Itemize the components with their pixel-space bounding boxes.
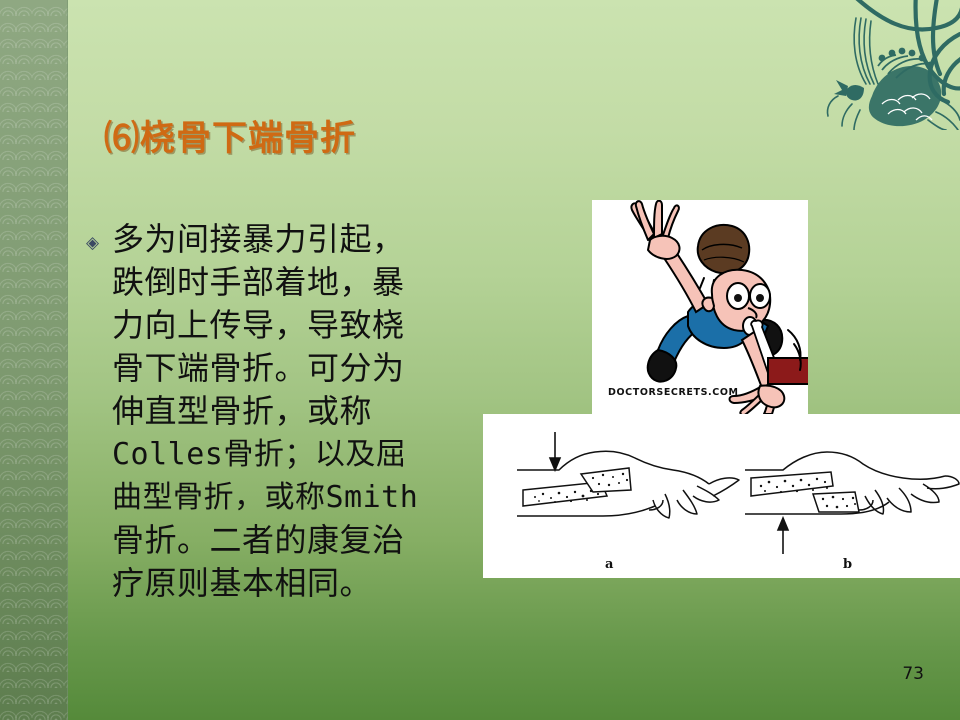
slide-canvas: ⑹桡骨下端骨折 ◈ 多为间接暴力引起， 跌倒时手部着地，暴 力向上传导，导致桡 … [0,0,960,720]
body-bullet-block: ◈ 多为间接暴力引起， 跌倒时手部着地，暴 力向上传导，导致桡 骨下端骨折。可分… [86,218,486,605]
body-line: 曲型骨折，或称Smith [112,476,486,519]
wrist-fracture-diagram-icon [483,414,960,578]
slide-title: ⑹桡骨下端骨折 [104,110,356,161]
diagram-label-a: a [605,557,613,572]
cartoon-watermark: DOCTORSECRETS.COM [608,387,739,398]
body-line: 骨下端骨折。可分为 [112,347,486,390]
cartoon-image-panel: DOCTORSECRETS.COM [592,200,808,414]
body-line: 跌倒时手部着地，暴 [112,261,486,304]
page-number: 73 [902,664,924,684]
body-line: 疗原则基本相同。 [112,562,486,605]
body-line: 力向上传导，导致桡 [112,304,486,347]
fracture-diagram-panel: a b [483,414,960,578]
body-line: 多为间接暴力引起， [112,218,486,261]
body-line: 骨折。二者的康复治 [112,519,486,562]
body-line: Colles骨折；以及屈 [112,433,486,476]
body-text: 多为间接暴力引起， 跌倒时手部着地，暴 力向上传导，导致桡 骨下端骨折。可分为 … [112,218,486,605]
falling-man-cartoon-icon [592,200,808,414]
diamond-bullet-icon: ◈ [86,218,112,264]
phoenix-ornament-icon [812,0,960,130]
left-decorative-strip [0,0,68,720]
body-line: 伸直型骨折，或称 [112,390,486,433]
diagram-label-b: b [843,557,852,572]
